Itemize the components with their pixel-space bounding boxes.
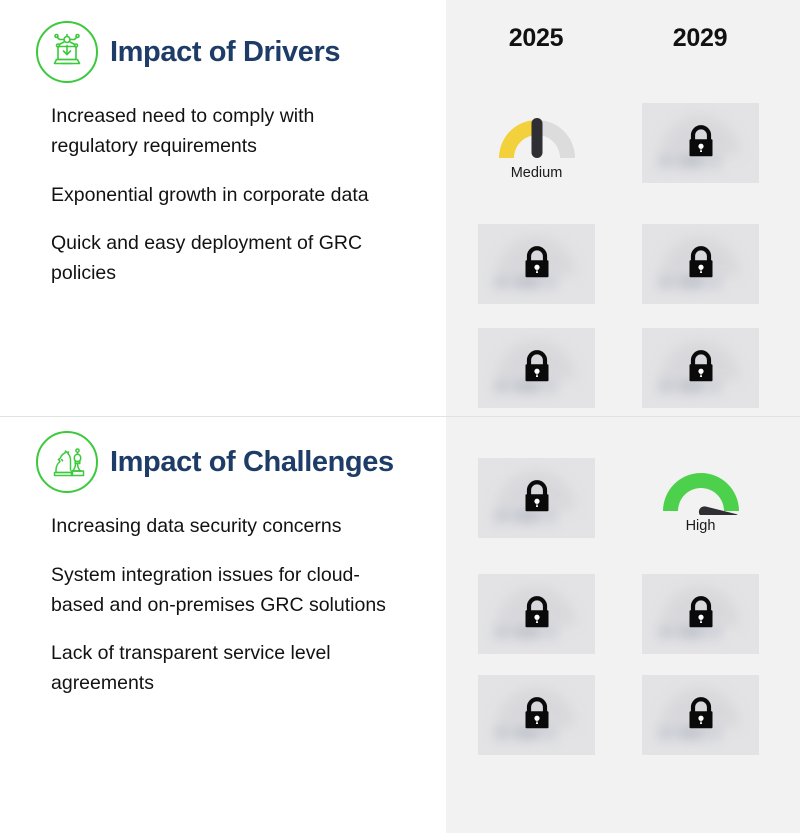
locked-cell-challenges-r3-2025[interactable] (478, 675, 595, 755)
list-item: Lack of transparent service level agreem… (51, 639, 401, 699)
lock-icon (684, 348, 718, 386)
section-challenges: Impact of Challenges Increasing data sec… (0, 428, 446, 699)
list-item: Exponential growth in corporate data (51, 181, 401, 211)
locked-cell-drivers-r3-2025[interactable] (478, 328, 595, 408)
gauge-level-label: High (686, 518, 716, 534)
list-item: Increased need to comply with regulatory… (51, 102, 401, 162)
gauge-cell-drivers-r1-2025[interactable]: Medium (478, 110, 595, 200)
locked-cell-drivers-r2-2025[interactable] (478, 224, 595, 304)
lock-icon (520, 695, 554, 733)
section-divider (0, 416, 800, 417)
gauge-level-label: Medium (511, 165, 563, 181)
lock-icon (684, 594, 718, 632)
lock-icon (684, 695, 718, 733)
lock-icon (520, 594, 554, 632)
lock-icon (520, 348, 554, 386)
gauge-cell-challenges-r1-2029[interactable]: High (642, 463, 759, 553)
list-item: System integration issues for cloud-base… (51, 561, 401, 621)
section-header-challenges: Impact of Challenges (0, 428, 446, 496)
chess-pieces-icon (36, 431, 98, 493)
column-header-2025: 2025 (456, 24, 616, 53)
locked-cell-drivers-r3-2029[interactable] (642, 328, 759, 408)
locked-cell-challenges-r2-2025[interactable] (478, 574, 595, 654)
list-item: Quick and easy deployment of GRC policie… (51, 229, 401, 289)
gauge-icon (494, 110, 580, 162)
locked-cell-drivers-r1-2029[interactable] (642, 103, 759, 183)
lock-icon (520, 244, 554, 282)
locked-cell-challenges-r1-2025[interactable] (478, 458, 595, 538)
driver-item-list: Increased need to comply with regulatory… (0, 102, 446, 289)
section-title-challenges: Impact of Challenges (110, 446, 394, 479)
impact-matrix-page: 2025 2029 Impact of Drivers (0, 0, 800, 833)
list-item: Increasing data security concerns (51, 512, 401, 542)
locked-cell-challenges-r3-2029[interactable] (642, 675, 759, 755)
column-header-2029: 2029 (620, 24, 780, 53)
locked-cell-drivers-r2-2029[interactable] (642, 224, 759, 304)
section-header-drivers: Impact of Drivers (0, 18, 446, 86)
locked-cell-challenges-r2-2029[interactable] (642, 574, 759, 654)
challenge-item-list: Increasing data security concerns System… (0, 512, 446, 699)
section-title-drivers: Impact of Drivers (110, 36, 340, 69)
lock-icon (684, 244, 718, 282)
section-drivers: Impact of Drivers Increased need to comp… (0, 18, 446, 289)
lock-icon (684, 123, 718, 161)
lock-icon (520, 478, 554, 516)
laptop-deployment-icon (36, 21, 98, 83)
gauge-icon (658, 463, 744, 515)
